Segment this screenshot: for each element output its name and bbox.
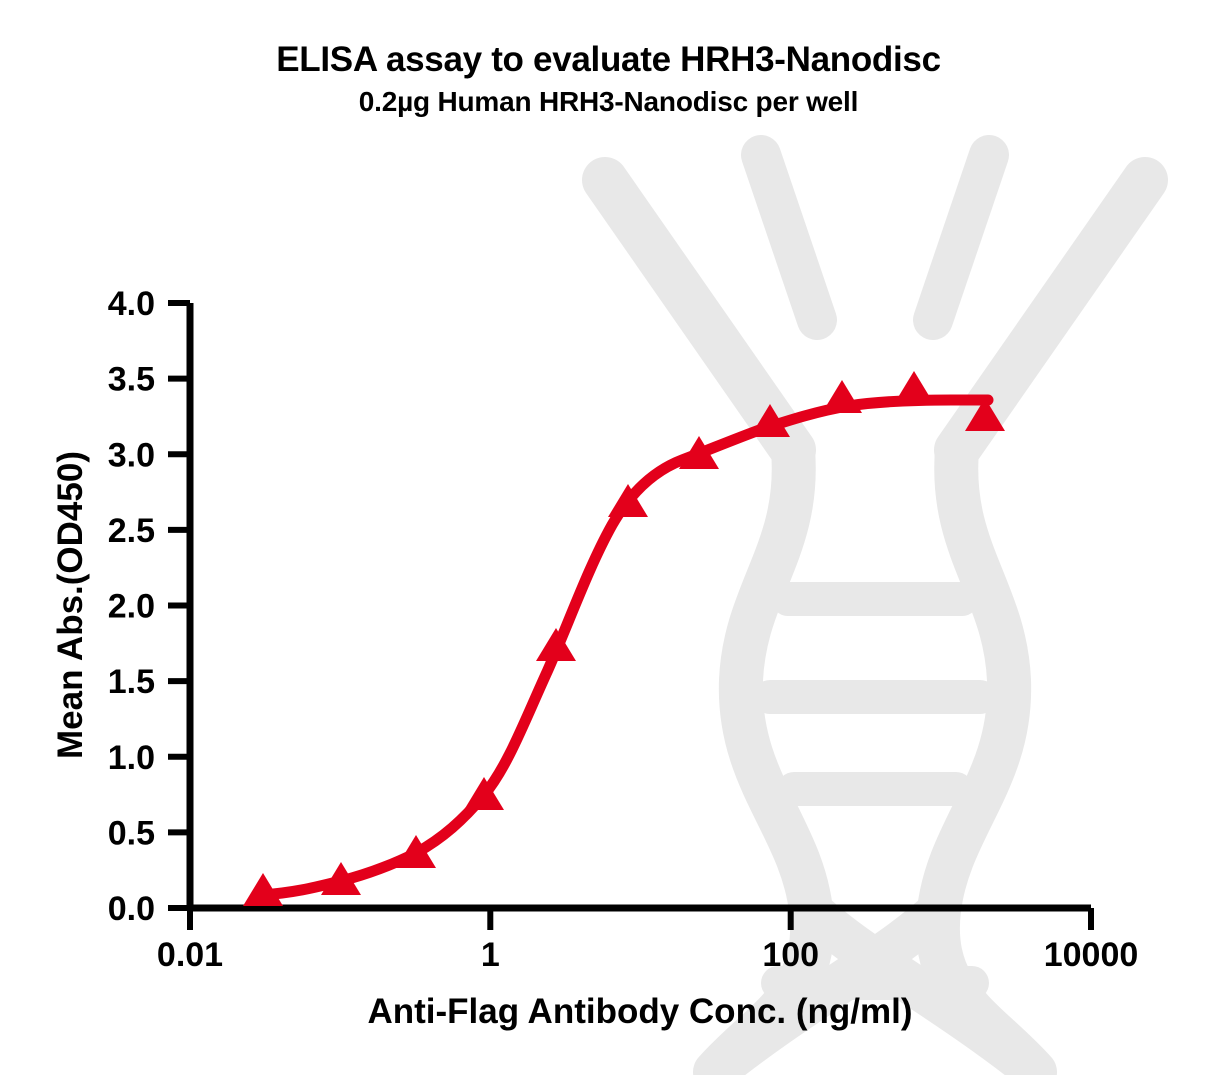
data-point [894,371,934,404]
data-point [536,628,576,661]
y-tick-label-2.5: 2.5 [108,512,155,550]
x-tick-label-10000: 10000 [1044,936,1139,974]
axis-spines [187,303,1091,908]
series-curve [263,400,988,895]
y-tick-labels: 4.0 3.5 3.0 2.5 2.0 1.5 1.0 0.5 0.0 [108,285,155,928]
x-axis-title: Anti-Flag Antibody Conc. (ng/ml) [367,992,912,1031]
x-tick-labels: 0.01 1 100 10000 [157,936,1138,974]
elisa-chart-figure: ELISA assay to evaluate HRH3-Nanodisc 0.… [0,0,1217,1075]
y-tick-label-2.0: 2.0 [108,588,155,626]
x-tick-label-100: 100 [762,936,819,974]
y-tick-label-4.0: 4.0 [108,285,155,323]
y-tick-label-0.5: 0.5 [108,814,155,852]
data-point-markers [243,371,1005,906]
x-tick-label-1: 1 [481,936,500,974]
y-tick-label-1.5: 1.5 [108,663,155,701]
data-point [822,380,862,413]
plot-area: 4.0 3.5 3.0 2.5 2.0 1.5 1.0 0.5 0.0 0.01… [0,0,1217,1075]
y-tick-label-3.0: 3.0 [108,436,155,474]
y-tick-label-0.0: 0.0 [108,890,155,928]
y-tick-label-1.0: 1.0 [108,739,155,777]
x-tick-label-0.01: 0.01 [157,936,223,974]
y-tick-label-3.5: 3.5 [108,361,155,399]
y-axis-title: Mean Abs.(OD450) [51,451,90,759]
